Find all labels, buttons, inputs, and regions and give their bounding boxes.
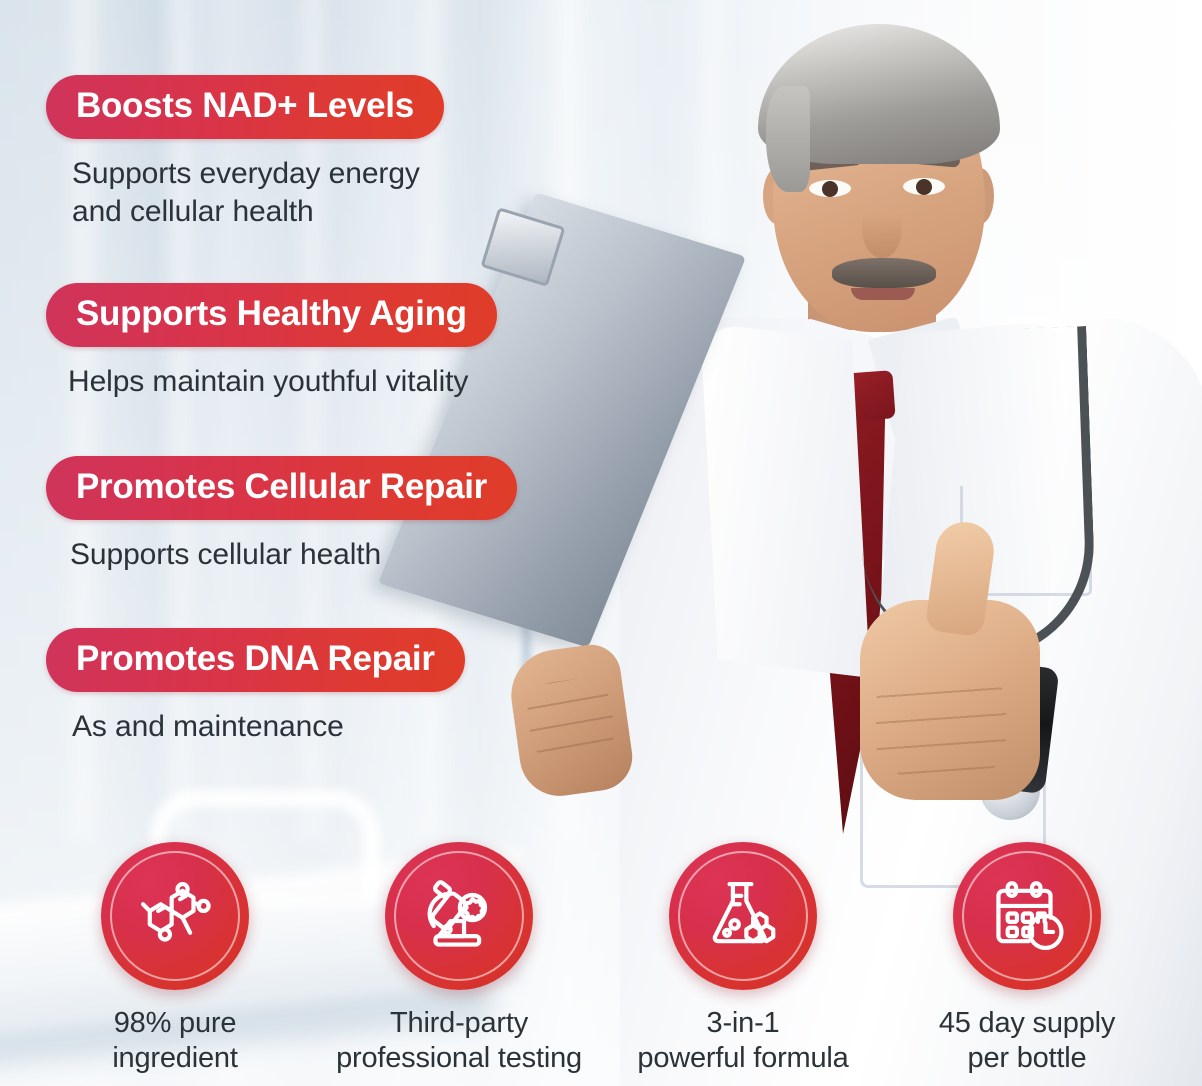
feature-item-supply: 45 day supply per bottle [896,842,1158,1076]
calendar-clock-icon [985,874,1069,958]
microscope-icon [417,874,501,958]
moustache [832,258,936,288]
feature-item-purity: 98% pure ingredient [44,842,306,1076]
benefit-description-1: Supports everyday energy and cellular he… [72,155,444,231]
benefit-title-1: Boosts NAD+ Levels [46,75,444,139]
benefit-description-2: Helps maintain youthful vitality [68,363,497,401]
feature-label-testing: Third-party professional testing [328,1006,590,1076]
benefit-item-1: Boosts NAD+ Levels Supports everyday ene… [46,75,444,231]
benefit-item-3: Promotes Cellular Repair Supports cellul… [46,456,517,574]
feature-label-supply: 45 day supply per bottle [896,1006,1158,1076]
eye-right [903,178,945,195]
nose [862,196,902,258]
benefit-title-4: Promotes DNA Repair [46,628,465,692]
feature-badge-testing [385,842,533,990]
feature-badges-row: 98% pure ingredient Third-party professi… [0,842,1202,1076]
flask-icon [701,874,785,958]
eye-left [809,180,851,197]
benefit-description-4: As and maintenance [72,708,465,746]
benefit-item-4: Promotes DNA Repair As and maintenance [46,628,465,746]
molecule-icon [133,874,217,958]
benefit-title-3: Promotes Cellular Repair [46,456,517,520]
feature-badge-formula [669,842,817,990]
feature-badge-supply [953,842,1101,990]
benefit-item-2: Supports Healthy Aging Helps maintain yo… [46,283,497,401]
feature-item-formula: 3-in-1 powerful formula [612,842,874,1076]
feature-label-purity: 98% pure ingredient [44,1006,306,1076]
hand-holding-clipboard [505,641,636,801]
benefit-description-3: Supports cellular health [70,536,517,574]
mouth [851,288,915,300]
feature-item-testing: Third-party professional testing [328,842,590,1076]
infographic-poster: Boosts NAD+ Levels Supports everyday ene… [0,0,1202,1086]
coat-lapel-left [700,322,870,678]
hair [758,24,1000,164]
feature-label-formula: 3-in-1 powerful formula [612,1006,874,1076]
feature-badge-purity [101,842,249,990]
thumbs-up-hand [860,600,1040,800]
benefit-title-2: Supports Healthy Aging [46,283,497,347]
